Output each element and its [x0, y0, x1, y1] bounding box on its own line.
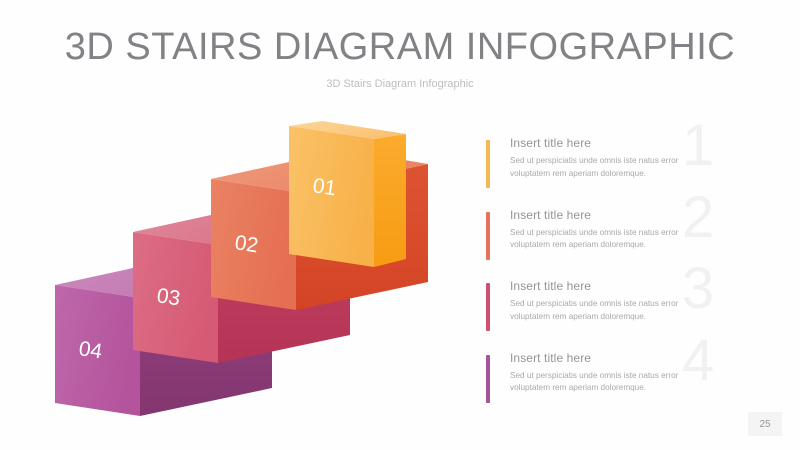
legend-item-4-description: Sed ut perspiciatis unde omnis iste natu… — [510, 370, 710, 396]
stair-step-01-label: 01 — [311, 174, 338, 200]
legend-item-1-accent-bar — [486, 140, 490, 188]
legend-item-3-title: Insert title here — [510, 279, 591, 293]
stair-step-04-label: 04 — [77, 337, 104, 363]
page-subtitle: 3D Stairs Diagram Infographic — [0, 78, 800, 90]
legend-item-4-accent-bar — [486, 355, 490, 403]
legend-item-4[interactable]: 4 Insert title here Sed ut perspiciatis … — [484, 351, 724, 411]
legend-item-4-title: Insert title here — [510, 351, 591, 365]
page-number-box: 25 — [748, 412, 782, 436]
stairs-diagram: 04 03 02 01 — [40, 120, 440, 420]
legend-item-1-title: Insert title here — [510, 136, 591, 150]
page-number: 25 — [759, 419, 770, 430]
slide-canvas: 3D STAIRS DIAGRAM INFOGRAPHIC 3D Stairs … — [0, 0, 800, 450]
stair-step-03-label: 03 — [155, 284, 182, 310]
legend-item-3-accent-bar — [486, 283, 490, 331]
steps-legend-list: 1 Insert title here Sed ut perspiciatis … — [484, 136, 784, 416]
legend-item-2-accent-bar — [486, 212, 490, 260]
stair-step-02-label: 02 — [233, 231, 260, 257]
legend-item-3-description: Sed ut perspiciatis unde omnis iste natu… — [510, 298, 710, 324]
legend-item-2-description: Sed ut perspiciatis unde omnis iste natu… — [510, 227, 710, 253]
stair-step-01-side — [374, 134, 406, 267]
legend-item-2-title: Insert title here — [510, 208, 591, 222]
legend-item-1-description: Sed ut perspiciatis unde omnis iste natu… — [510, 155, 710, 181]
stair-step-01[interactable]: 01 — [289, 121, 406, 267]
page-title: 3D STAIRS DIAGRAM INFOGRAPHIC — [0, 26, 800, 69]
